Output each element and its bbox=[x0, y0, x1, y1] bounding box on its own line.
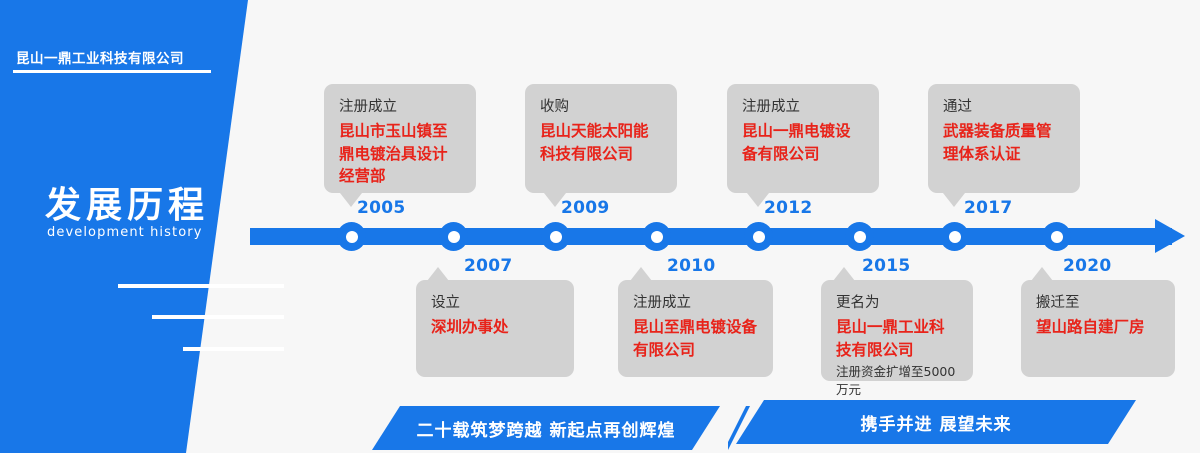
timeline-node-2017[interactable] bbox=[940, 222, 969, 251]
year-label-2020: 2020 bbox=[1063, 256, 1112, 276]
event-lead-2015: 更名为 bbox=[836, 293, 959, 315]
company-name: 昆山一鼎工业科技有限公司 bbox=[16, 47, 231, 67]
node-dot-icon bbox=[550, 231, 562, 243]
event-highlight-2009: 昆山天能太阳能科技有限公司 bbox=[540, 120, 663, 166]
timeline-arrow-icon bbox=[1155, 219, 1185, 253]
event-highlight-2020: 望山路自建厂房 bbox=[1036, 316, 1161, 339]
node-dot-icon bbox=[651, 231, 663, 243]
event-lead-2005: 注册成立 bbox=[339, 97, 462, 119]
node-dot-icon bbox=[448, 231, 460, 243]
decorative-line-1 bbox=[118, 284, 284, 288]
event-lead-2017: 通过 bbox=[943, 97, 1066, 119]
bottom-banner-1: 二十载筑梦跨越 新起点再创辉煌 bbox=[372, 406, 720, 450]
event-highlight-2007: 深圳办事处 bbox=[431, 316, 560, 339]
node-dot-icon bbox=[753, 231, 765, 243]
decorative-line-2 bbox=[152, 315, 284, 319]
event-highlight-2012: 昆山一鼎电镀设备有限公司 bbox=[742, 120, 865, 166]
card-pointer-2005 bbox=[340, 193, 362, 207]
timeline-axis bbox=[250, 228, 1172, 245]
year-label-2017: 2017 bbox=[964, 198, 1013, 218]
event-highlight-2010: 昆山至鼎电镀设备有限公司 bbox=[633, 316, 759, 362]
event-lead-2010: 注册成立 bbox=[633, 293, 759, 315]
timeline-node-2010[interactable] bbox=[642, 222, 671, 251]
event-card-2017[interactable]: 通过 武器装备质量管理体系认证 bbox=[928, 84, 1080, 193]
event-lead-2009: 收购 bbox=[540, 97, 663, 119]
card-pointer-2017 bbox=[943, 193, 965, 207]
development-history-infographic: 昆山一鼎工业科技有限公司 发展历程 development history 20… bbox=[0, 0, 1200, 453]
card-pointer-2020 bbox=[1031, 267, 1053, 281]
node-dot-icon bbox=[1051, 231, 1063, 243]
card-pointer-2009 bbox=[544, 193, 566, 207]
page-title: 发展历程 bbox=[45, 176, 275, 228]
card-pointer-2012 bbox=[747, 193, 769, 207]
year-label-2005: 2005 bbox=[357, 198, 406, 218]
event-card-2005[interactable]: 注册成立 昆山市玉山镇至鼎电镀治具设计经营部 bbox=[324, 84, 476, 193]
timeline-node-2012[interactable] bbox=[744, 222, 773, 251]
node-dot-icon bbox=[949, 231, 961, 243]
timeline-node-2005[interactable] bbox=[337, 222, 366, 251]
event-card-2020[interactable]: 搬迁至 望山路自建厂房 bbox=[1021, 280, 1175, 377]
year-label-2009: 2009 bbox=[561, 198, 610, 218]
event-card-2007[interactable]: 设立 深圳办事处 bbox=[416, 280, 574, 377]
card-pointer-2015 bbox=[833, 267, 855, 281]
year-label-2012: 2012 bbox=[764, 198, 813, 218]
node-dot-icon bbox=[854, 231, 866, 243]
event-card-2010[interactable]: 注册成立 昆山至鼎电镀设备有限公司 bbox=[618, 280, 773, 377]
year-label-2010: 2010 bbox=[667, 256, 716, 276]
decorative-line-3 bbox=[183, 347, 284, 351]
event-highlight-2005: 昆山市玉山镇至鼎电镀治具设计经营部 bbox=[339, 120, 462, 188]
brand-underline-rule bbox=[13, 70, 211, 73]
timeline-node-2020[interactable] bbox=[1042, 222, 1071, 251]
card-pointer-2007 bbox=[427, 267, 449, 281]
event-card-2015[interactable]: 更名为 昆山一鼎工业科技有限公司 注册资金扩增至5000万元 bbox=[821, 280, 973, 381]
timeline-node-2015[interactable] bbox=[845, 222, 874, 251]
event-note-2015: 注册资金扩增至5000万元 bbox=[836, 363, 959, 399]
bottom-banner-2-text: 携手并进 展望未来 bbox=[861, 410, 1012, 435]
event-lead-2007: 设立 bbox=[431, 293, 560, 315]
year-label-2015: 2015 bbox=[862, 256, 911, 276]
node-dot-icon bbox=[346, 231, 358, 243]
timeline-node-2007[interactable] bbox=[439, 222, 468, 251]
timeline-node-2009[interactable] bbox=[541, 222, 570, 251]
event-card-2012[interactable]: 注册成立 昆山一鼎电镀设备有限公司 bbox=[727, 84, 879, 193]
event-highlight-2017: 武器装备质量管理体系认证 bbox=[943, 120, 1066, 166]
event-lead-2012: 注册成立 bbox=[742, 97, 865, 119]
bottom-banner-1-text: 二十载筑梦跨越 新起点再创辉煌 bbox=[417, 416, 676, 441]
event-highlight-2015: 昆山一鼎工业科技有限公司 bbox=[836, 316, 959, 362]
event-card-2009[interactable]: 收购 昆山天能太阳能科技有限公司 bbox=[525, 84, 677, 193]
event-lead-2020: 搬迁至 bbox=[1036, 293, 1161, 315]
year-label-2007: 2007 bbox=[464, 256, 513, 276]
bottom-banner-2: 携手并进 展望未来 bbox=[736, 400, 1136, 444]
card-pointer-2010 bbox=[630, 267, 652, 281]
